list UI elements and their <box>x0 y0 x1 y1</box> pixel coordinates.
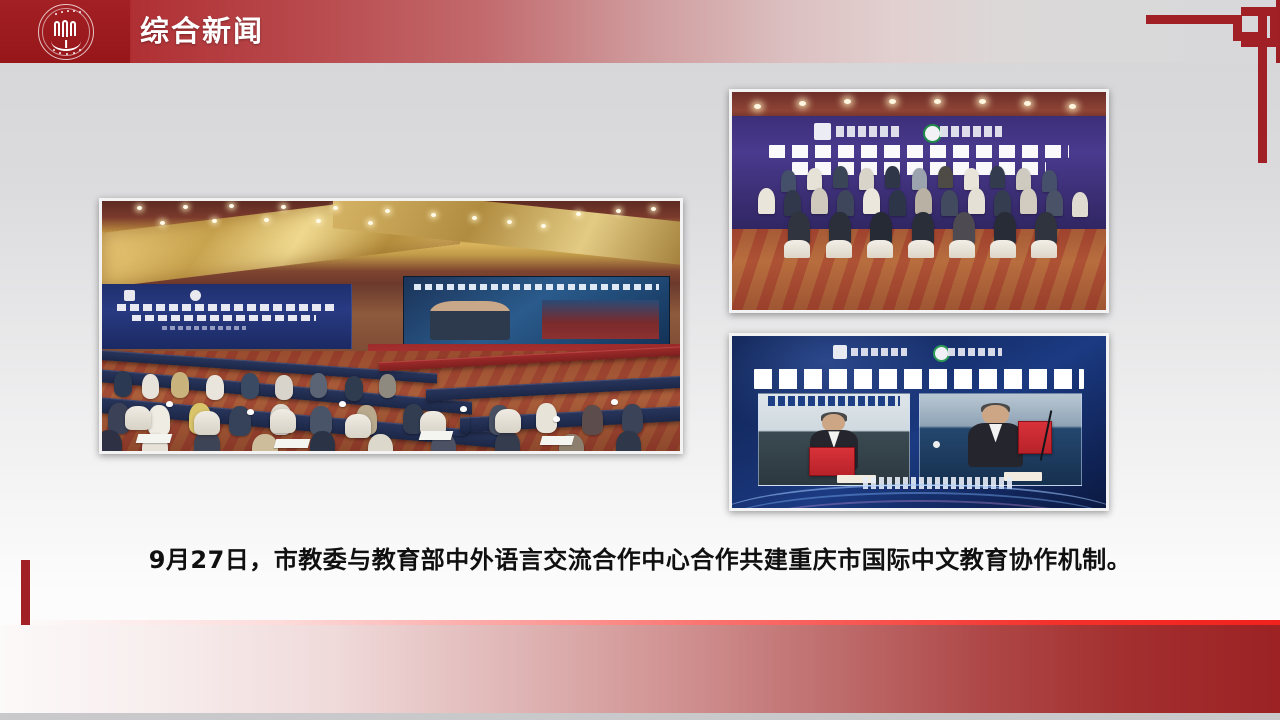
university-logo <box>24 3 116 61</box>
photo-conference-hall[interactable] <box>99 198 683 454</box>
banner-date-line <box>162 326 247 329</box>
page-header: 综合新闻 <box>0 0 1280 63</box>
decorative-corner-top-right <box>1146 7 1280 167</box>
news-slide: 综合新闻 <box>0 0 1280 720</box>
bottom-gradient-band <box>0 625 1280 713</box>
local-signatory <box>968 405 1023 467</box>
decorative-wave <box>732 470 1106 508</box>
photo-group-portrait[interactable] <box>729 89 1109 313</box>
slide-caption: 9月27日，市教委与教育部中外语言交流合作中心合作共建重庆市国际中文教育协作机制… <box>0 540 1280 575</box>
screen-title <box>414 284 659 290</box>
conference-scene <box>102 201 680 451</box>
tea-cup <box>933 441 940 448</box>
backdrop-title <box>754 369 1083 390</box>
backdrop-logos <box>833 345 1013 366</box>
group-people <box>732 92 1106 310</box>
university-seal-icon <box>38 4 94 60</box>
banner-logos <box>124 290 261 300</box>
signing-scene <box>732 336 1106 508</box>
screen-speaker <box>430 301 510 340</box>
banner-title-line1 <box>117 304 336 311</box>
remote-pane-label <box>768 396 900 405</box>
bottom-footer-strip <box>0 713 1280 720</box>
group-scene <box>732 92 1106 310</box>
banner-title-line2 <box>132 315 316 322</box>
page-title: 综合新闻 <box>140 0 264 63</box>
seal-bottom-text <box>39 5 93 59</box>
photo-signing-ceremony[interactable] <box>729 333 1109 511</box>
screen-sub-view <box>542 300 659 339</box>
audience <box>102 336 680 451</box>
